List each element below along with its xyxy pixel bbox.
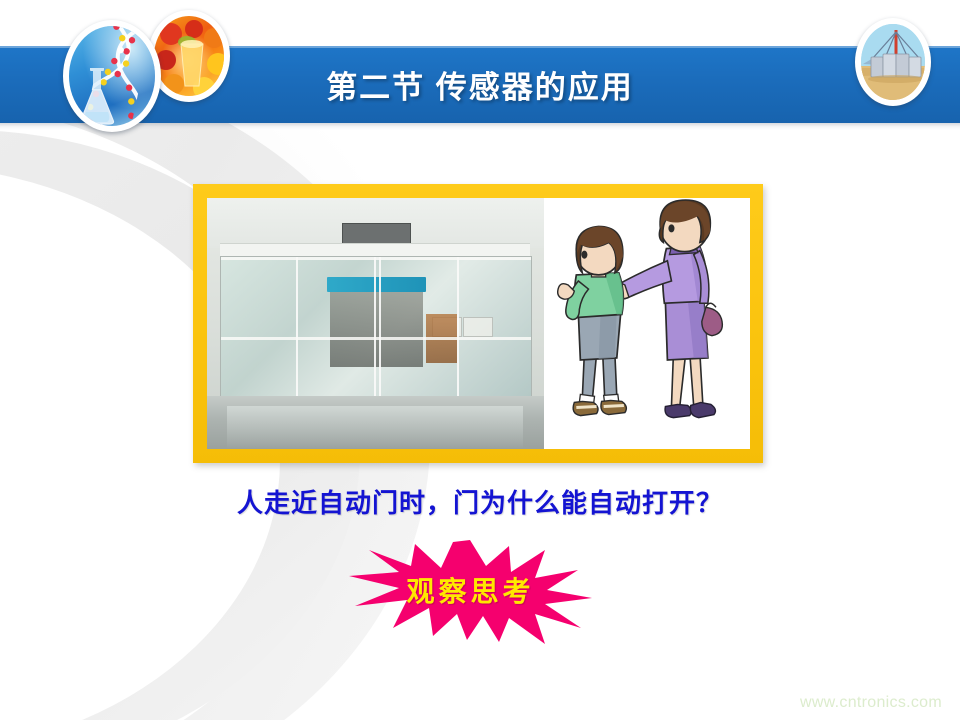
dna-lab-icon-inner (69, 26, 155, 126)
glass-rail-middle (221, 337, 531, 340)
floor-reflection (227, 406, 523, 448)
site-watermark: www.cntronics.com (800, 694, 942, 712)
interior-banner (327, 277, 426, 293)
glass-mullion-center-right (379, 257, 381, 400)
fruit-juice-icon (148, 10, 230, 102)
slide-canvas: 第二节 传感器的应用 (0, 0, 960, 720)
door-glass-panels (220, 256, 532, 401)
question-text: 人走近自动门时，门为什么能自动打开？ (0, 483, 960, 520)
door-floor (207, 396, 544, 449)
observe-and-think-badge: 观察思考 (349, 536, 592, 644)
dna-lab-icon (63, 20, 161, 132)
glass-rail-top (221, 257, 531, 260)
door-sign-plate (342, 223, 411, 245)
grain-silo-art (861, 24, 925, 100)
grain-silo-icon (855, 18, 931, 106)
picture-content (207, 198, 750, 449)
glass-mullion-center-left (374, 257, 376, 400)
lab-flask-art (77, 68, 117, 126)
interior-hallway (330, 292, 423, 366)
interior-wall-panel-b (463, 317, 493, 338)
woman-figure (615, 200, 722, 418)
dna-lab-scene (69, 26, 155, 126)
grain-silo-scene (861, 24, 925, 100)
child-figure (557, 226, 626, 415)
fruit-juice-art (154, 16, 224, 96)
glass-mullion-right (457, 257, 459, 400)
mother-and-child-illustration (544, 198, 750, 449)
automatic-sliding-door-photo (207, 198, 544, 449)
picture-frame (193, 184, 763, 463)
observe-and-think-label: 观察思考 (349, 536, 592, 644)
fruit-juice-scene (154, 16, 224, 96)
grain-silo-icon-inner (861, 24, 925, 100)
glass-mullion-left (296, 257, 298, 400)
mother-and-child-art (544, 198, 750, 449)
fruit-juice-icon-inner (154, 16, 224, 96)
